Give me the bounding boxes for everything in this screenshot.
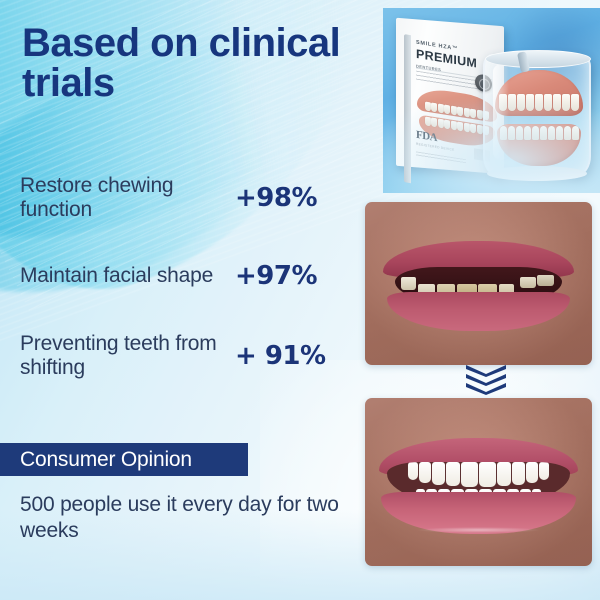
after-lip-highlight (416, 527, 541, 533)
after-mouth (379, 442, 579, 526)
consumer-opinion-label: Consumer Opinion (0, 448, 192, 472)
transition-arrows (465, 366, 507, 396)
benefit-list: Restore chewing function +98% Maintain f… (20, 168, 360, 404)
benefit-row: Maintain facial shape +97% (20, 246, 360, 306)
product-photo-fade (383, 93, 600, 193)
before-mouth (383, 241, 574, 326)
denture-container-lid (485, 50, 591, 68)
product-photo: SMILE HZA™ PREMIUM DENTURES (383, 8, 600, 193)
before-lower-lip (387, 292, 570, 331)
benefit-label: Restore chewing function (20, 174, 235, 222)
after-upper-tooth-row (387, 462, 571, 487)
consumer-opinion-text: 500 people use it every day for two week… (20, 492, 350, 543)
advertisement-canvas: Based on clinical trials Restore chewing… (0, 0, 600, 600)
benefit-label: Maintain facial shape (20, 264, 235, 288)
benefit-row: Restore chewing function +98% (20, 168, 360, 228)
benefit-row: Preventing teeth from shifting + 91% (20, 326, 360, 386)
consumer-opinion-bar: Consumer Opinion (0, 443, 248, 476)
benefit-percent: +97% (235, 261, 317, 291)
chevron-down-icon (465, 382, 507, 395)
page-title: Based on clinical trials (22, 24, 372, 103)
benefit-label: Preventing teeth from shifting (20, 332, 235, 380)
benefit-percent: + 91% (235, 341, 326, 371)
benefit-percent: +98% (235, 183, 317, 213)
before-photo (365, 202, 592, 365)
after-photo (365, 398, 592, 566)
